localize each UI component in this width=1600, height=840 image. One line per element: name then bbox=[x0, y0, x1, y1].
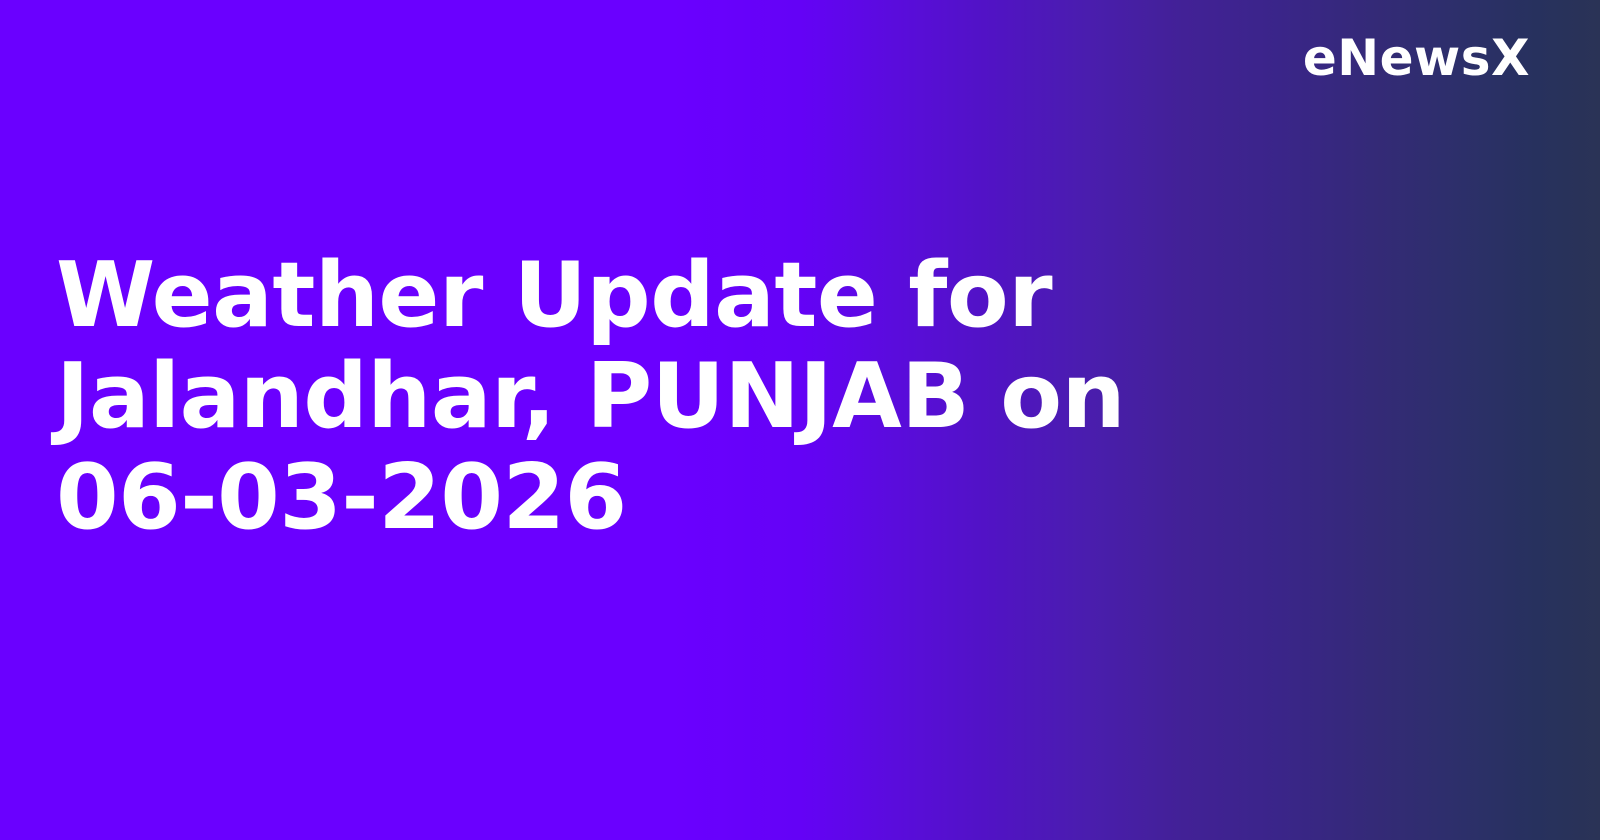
page-title: Weather Update for Jalandhar, PUNJAB on … bbox=[56, 246, 1126, 548]
brand-logo[interactable]: eNewsX bbox=[1303, 33, 1530, 83]
brand-wordmark-text: eNewsX bbox=[1303, 33, 1530, 83]
news-banner-card: eNewsX Weather Update for Jalandhar, PUN… bbox=[0, 0, 1600, 840]
headline-block: Weather Update for Jalandhar, PUNJAB on … bbox=[56, 246, 1126, 548]
